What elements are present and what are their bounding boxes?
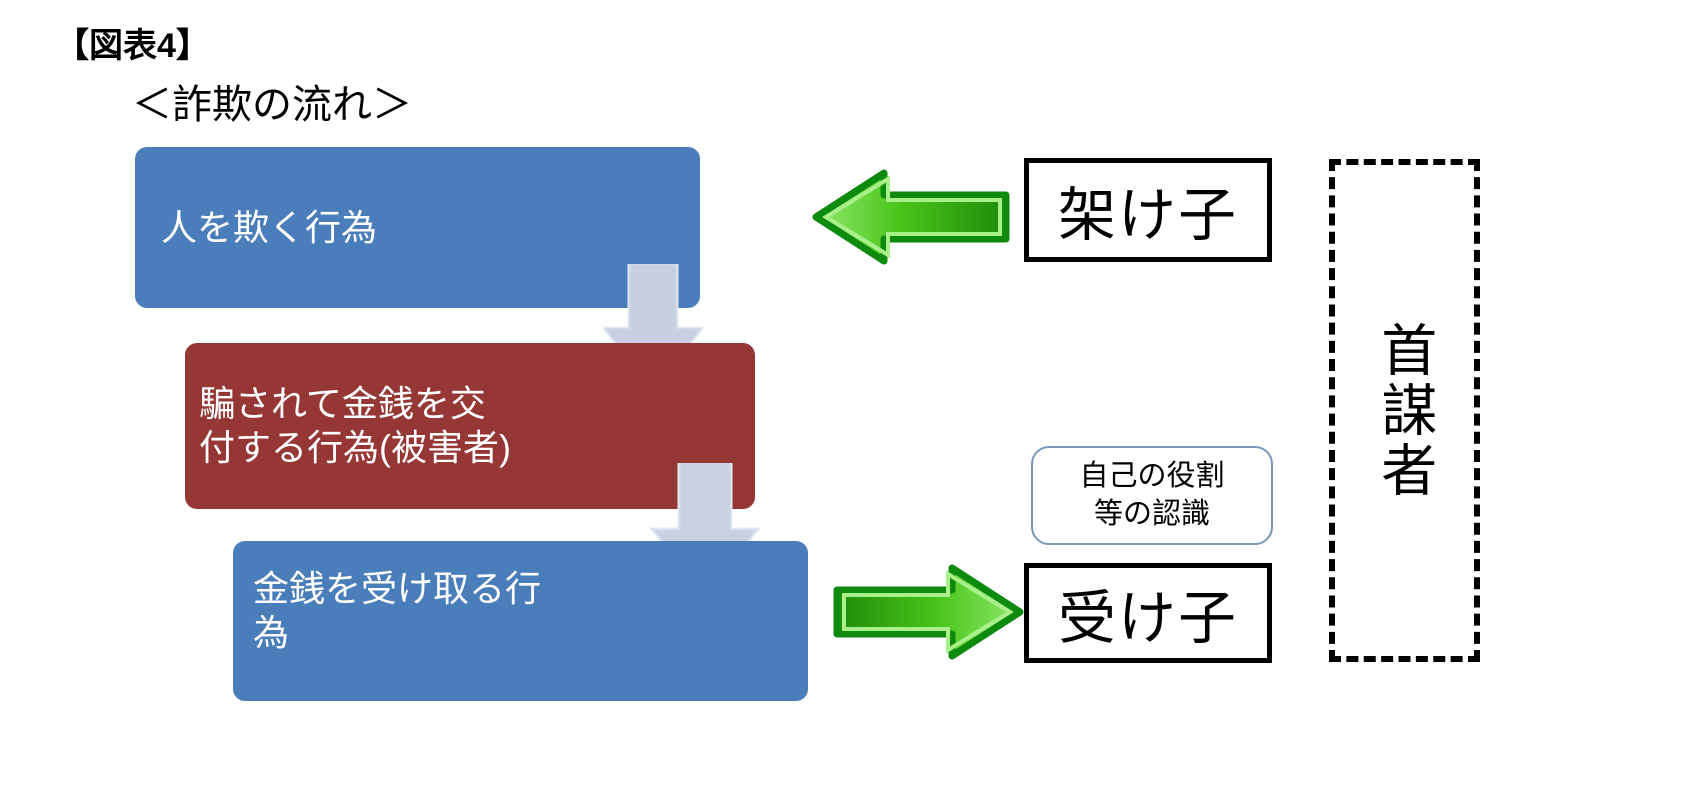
note-role-awareness: 自己の役割 等の認識 [1031, 446, 1273, 545]
flow-step-handover-label: 騙されて金銭を交 付する行為(被害者) [199, 382, 511, 470]
actor-box-mastermind-label: 首謀者 [1374, 321, 1434, 501]
flow-step-receive-label: 金銭を受け取る行 為 [253, 567, 541, 655]
flow-step-deceive-label: 人を欺く行為 [161, 206, 377, 250]
diagram-canvas: 【図表4】 ＜詐欺の流れ＞ 人を欺く行為 騙されて金銭を交 付する行為(被害者)… [0, 0, 1685, 796]
page-title: 【図表4】 [55, 18, 210, 67]
note-role-awareness-line1: 自己の役割 [1079, 458, 1224, 496]
page-subtitle: ＜詐欺の流れ＞ [132, 72, 412, 130]
arrow-left-icon[interactable] [812, 167, 1010, 267]
actor-box-receiver[interactable]: 受け子 [1024, 563, 1272, 663]
flow-step-receive[interactable]: 金銭を受け取る行 為 [233, 541, 808, 701]
arrow-right-icon[interactable] [832, 562, 1024, 662]
actor-box-caller[interactable]: 架け子 [1024, 158, 1272, 262]
actor-box-caller-label: 架け子 [1058, 168, 1238, 252]
actor-box-receiver-label: 受け子 [1058, 571, 1238, 655]
note-role-awareness-line2: 等の認識 [1094, 496, 1210, 534]
actor-box-mastermind[interactable]: 首謀者 [1329, 159, 1480, 662]
